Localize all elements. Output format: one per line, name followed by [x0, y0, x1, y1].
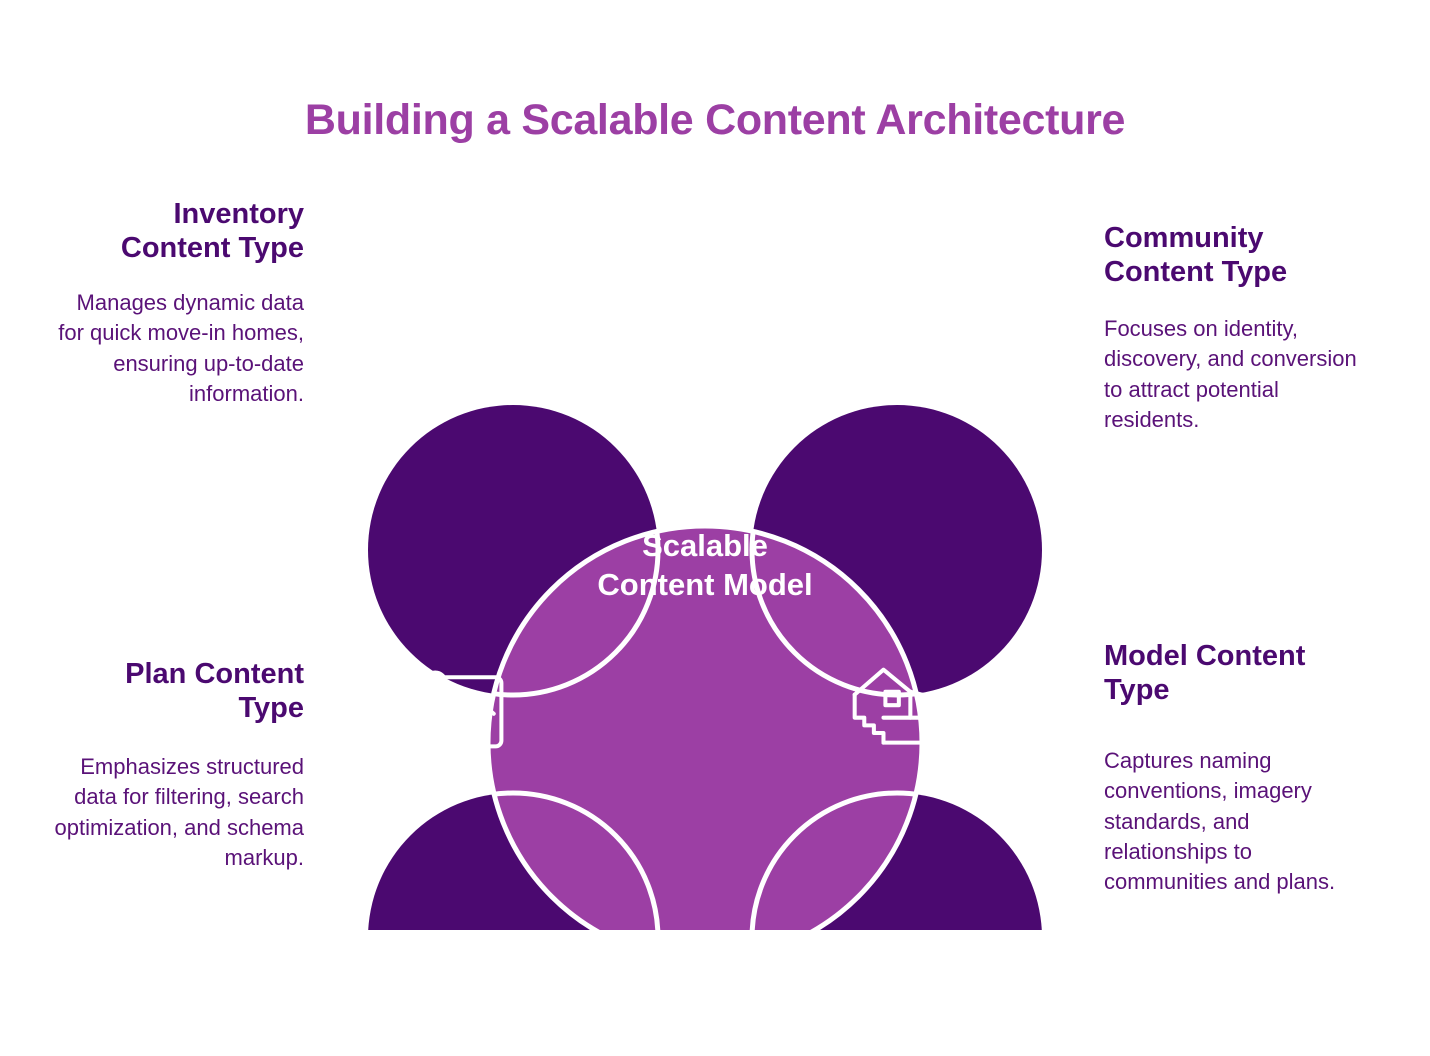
page-title: Building a Scalable Content Architecture [0, 96, 1430, 145]
quadrant-label-plan: Plan Content Type Emphasizes structured … [48, 658, 304, 873]
quadrant-label-inventory: Inventory Content Type Manages dynamic d… [48, 198, 304, 409]
quadrant-label-community: Community Content Type Focuses on identi… [1104, 222, 1366, 435]
quadrant-title-line2: Content Type [48, 232, 304, 266]
quadrant-title-line1: Community [1104, 222, 1366, 256]
quadrant-title-community: Community Content Type [1104, 222, 1366, 290]
quadrant-title-line2: Type [48, 692, 304, 726]
quadrant-label-model: Model Content Type Captures naming conve… [1104, 640, 1366, 898]
quadrant-title-inventory: Inventory Content Type [48, 198, 304, 266]
quadrant-body-community: Focuses on identity, discovery, and conv… [1104, 314, 1366, 435]
quadrant-title-line1: Model Content [1104, 640, 1366, 674]
quadrant-body-plan: Emphasizes structured data for filtering… [48, 752, 304, 873]
quadrant-title-plan: Plan Content Type [48, 658, 304, 726]
quadrant-body-model: Captures naming conventions, imagery sta… [1104, 746, 1366, 898]
quadrant-body-inventory: Manages dynamic data for quick move-in h… [48, 288, 304, 409]
diagram-svg [355, 210, 1055, 930]
venn-diagram: Scalable Content Model [355, 210, 1055, 930]
quadrant-title-line1: Inventory [48, 198, 304, 232]
quadrant-title-model: Model Content Type [1104, 640, 1366, 708]
center-hub-circle [488, 526, 922, 930]
quadrant-title-line2: Content Type [1104, 256, 1366, 290]
quadrant-title-line1: Plan Content [48, 658, 304, 692]
quadrant-title-line2: Type [1104, 674, 1366, 708]
